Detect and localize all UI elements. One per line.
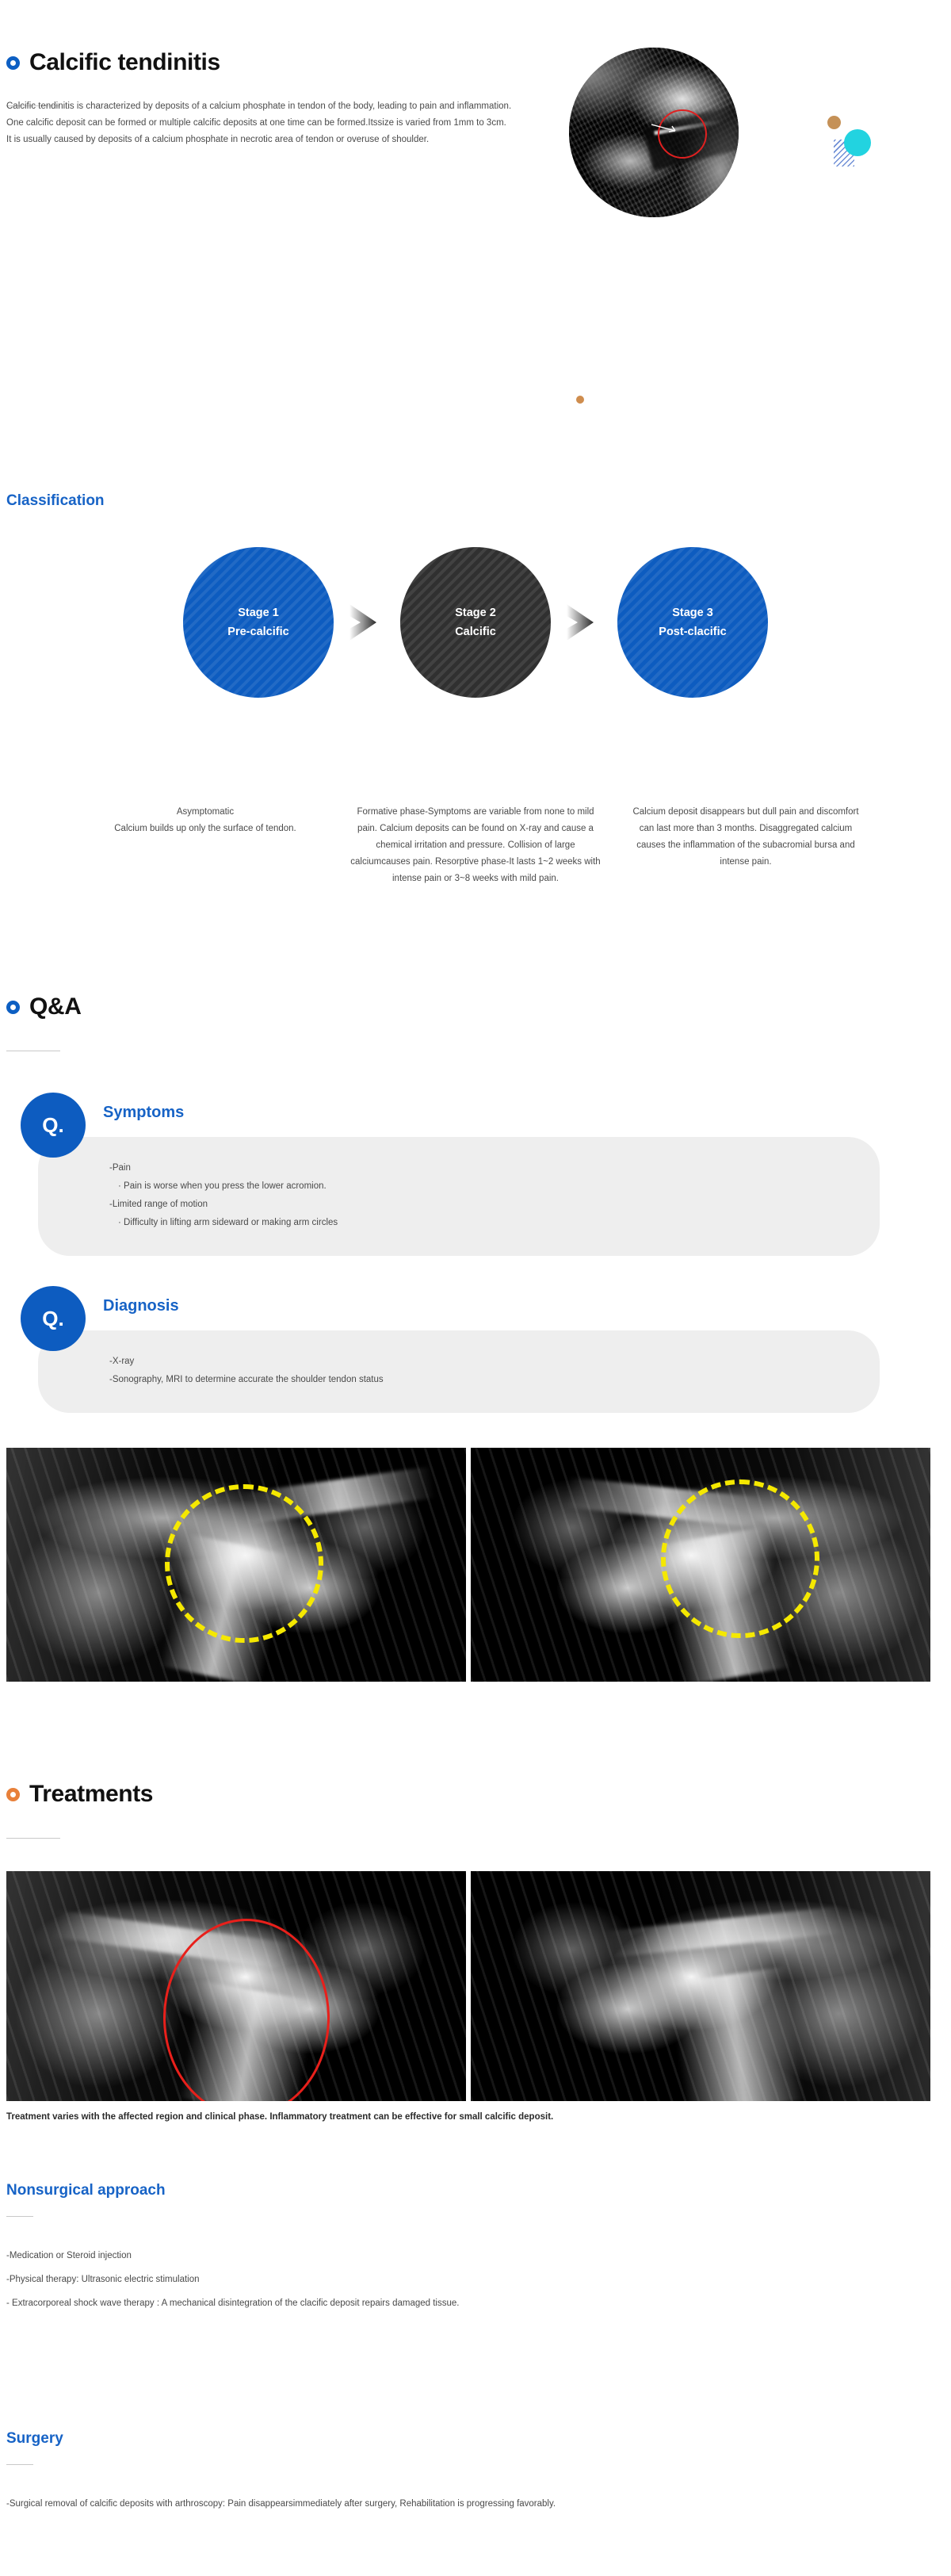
nonsurgical-item: - Extracorporeal shock wave therapy : A …	[6, 2291, 934, 2315]
classification-heading: Classification	[6, 492, 105, 510]
qa-divider	[6, 1051, 60, 1051]
stage-1-line2: Pre-calcific	[227, 622, 288, 641]
treatment-xray-right	[471, 1871, 930, 2101]
stage-1-line1: Stage 1	[238, 603, 279, 622]
page-root: Calcific tendinitis Calcific tendinitis …	[0, 0, 951, 2576]
diagnosis-xray-left	[6, 1448, 466, 1682]
decorative-tan-circle	[827, 116, 841, 129]
stage-3-description: Calcium deposit disappears but dull pain…	[615, 804, 877, 887]
qa-badge-icon: Q.	[21, 1093, 86, 1158]
diagnosis-xray-right	[471, 1448, 930, 1682]
stage-circle-1: Stage 1 Pre-calcific	[183, 547, 334, 698]
qa-badge-icon: Q.	[21, 1286, 86, 1351]
chevron-right-icon	[551, 602, 617, 643]
treatments-caption: Treatment varies with the affected regio…	[6, 2109, 926, 2125]
mri-arrow-icon	[651, 124, 678, 133]
classification-descriptions: Asymptomatic Calcium builds up only the …	[0, 804, 951, 887]
treatments-heading-group: Treatments	[6, 1782, 153, 1806]
stage-2-line1: Stage 2	[455, 603, 496, 622]
qa-answer-line: -Pain	[109, 1159, 857, 1177]
nonsurgical-item: -Physical therapy: Ultrasonic electric s…	[6, 2268, 934, 2291]
intro-paragraph: It is usually caused by deposits of a ca…	[6, 132, 514, 148]
classification-stage-row: Stage 1 Pre-calcific Stage 2 Calcific	[0, 547, 951, 698]
mri-red-circle-marker	[658, 109, 707, 159]
qa-answer-line: · Difficulty in lifting arm sideward or …	[109, 1214, 857, 1232]
treatments-heading: Treatments	[29, 1782, 153, 1806]
stage-circle-2: Stage 2 Calcific	[400, 547, 551, 698]
stage-1-description: Asymptomatic Calcium builds up only the …	[74, 804, 336, 887]
ring-bullet-icon	[6, 1001, 20, 1014]
xray-yellow-circle-marker	[165, 1484, 323, 1643]
page-title: Calcific tendinitis	[29, 51, 220, 75]
qa-item-diagnosis: Q. Diagnosis -X-ray -Sonography, MRI to …	[21, 1286, 880, 1413]
qa-answer-panel-symptoms: -Pain · Pain is worse when you press the…	[38, 1137, 880, 1256]
qa-title-diagnosis: Diagnosis	[103, 1297, 179, 1315]
qa-heading-group: Q&A	[6, 995, 81, 1019]
nonsurgical-item: -Medication or Steroid injection	[6, 2244, 934, 2268]
qa-answer-panel-diagnosis: -X-ray -Sonography, MRI to determine acc…	[38, 1330, 880, 1413]
decorative-cyan-circle	[844, 129, 871, 156]
nonsurgical-heading: Nonsurgical approach	[6, 2182, 166, 2199]
stage-3-line2: Post-clacific	[659, 622, 726, 641]
treatments-divider	[6, 1838, 60, 1839]
intro-paragraph: One calcific deposit can be formed or mu…	[6, 115, 514, 132]
treatments-xray-row	[6, 1871, 930, 2101]
nonsurgical-list: -Medication or Steroid injection -Physic…	[6, 2244, 934, 2315]
ring-bullet-icon	[6, 1788, 20, 1801]
nonsurgical-divider	[6, 2216, 33, 2217]
xray-yellow-circle-marker	[661, 1479, 819, 1638]
intro-paragraphs: Calcific tendinitis is characterized by …	[6, 98, 514, 148]
surgery-heading: Surgery	[6, 2430, 63, 2448]
qa-answer-line: · Pain is worse when you press the lower…	[109, 1177, 857, 1196]
surgery-item: -Surgical removal of calcific deposits w…	[6, 2492, 934, 2516]
intro-paragraph: Calcific tendinitis is characterized by …	[6, 98, 514, 115]
qa-item-symptoms: Q. Symptoms -Pain · Pain is worse when y…	[21, 1093, 880, 1243]
stage-circle-3: Stage 3 Post-clacific	[617, 547, 768, 698]
qa-heading: Q&A	[29, 995, 81, 1019]
ring-bullet-icon	[6, 56, 20, 70]
chevron-right-icon	[334, 602, 400, 643]
page-title-group: Calcific tendinitis	[6, 51, 220, 75]
xray-humerus-shaft	[668, 1966, 804, 2101]
stage-3-line1: Stage 3	[672, 603, 713, 622]
mri-shoulder-image	[569, 48, 739, 217]
surgery-list: -Surgical removal of calcific deposits w…	[6, 2492, 934, 2516]
surgery-divider	[6, 2464, 33, 2465]
treatment-xray-left	[6, 1871, 466, 2101]
stage-2-description: Formative phase-Symptoms are variable fr…	[336, 804, 615, 887]
qa-answer-line: -Sonography, MRI to determine accurate t…	[109, 1371, 857, 1389]
stage-2-line2: Calcific	[455, 622, 496, 641]
qa-title-symptoms: Symptoms	[103, 1104, 184, 1122]
diagnosis-xray-row	[6, 1448, 930, 1682]
qa-answer-line: -Limited range of motion	[109, 1196, 857, 1214]
decorative-orange-ring	[576, 396, 584, 404]
qa-answer-line: -X-ray	[109, 1353, 857, 1371]
